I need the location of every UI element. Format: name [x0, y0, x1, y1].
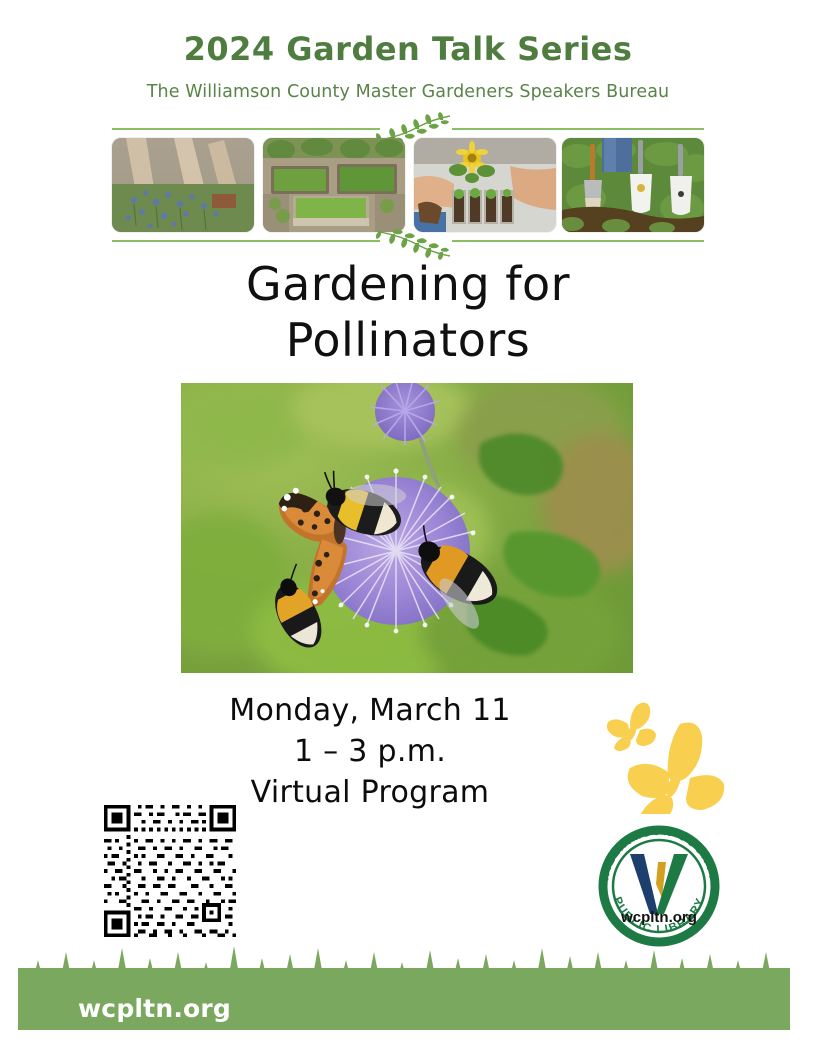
photo-strip: [112, 138, 704, 232]
qr-code-icon[interactable]: [98, 801, 242, 941]
butterfly-silhouette-icon: [598, 692, 730, 814]
series-title: 2024 Garden Talk Series: [0, 30, 816, 68]
page-title-line2: Pollinators: [0, 312, 816, 368]
divider-rule-top-left: [112, 128, 380, 130]
strip-photo-3: [414, 138, 556, 232]
strip-photo-1: [112, 138, 254, 232]
divider-rule-bottom-left: [112, 240, 380, 242]
page-title: Gardening for Pollinators: [0, 256, 816, 368]
divider-rule-top-right: [452, 128, 704, 130]
event-date: Monday, March 11: [150, 690, 590, 731]
leafy-vine-sprig-icon-bottom: [372, 226, 458, 260]
hero-photo: [181, 383, 633, 673]
logo-center-url: wcpltn.org: [620, 909, 697, 926]
footer-url[interactable]: wcpltn.org: [78, 994, 231, 1023]
series-subtitle: The Williamson County Master Gardeners S…: [0, 82, 816, 102]
library-logo: WILLIAMSON COUNTY PUBLIC LIBRARY wcpltn.…: [592, 818, 726, 948]
event-details: Monday, March 11 1 – 3 p.m. Virtual Prog…: [150, 690, 590, 813]
divider-rule-bottom-right: [452, 240, 704, 242]
event-time: 1 – 3 p.m.: [150, 731, 590, 772]
strip-photo-2: [263, 138, 405, 232]
strip-photo-4: [562, 138, 704, 232]
flyer-page: 2024 Garden Talk Series The Williamson C…: [0, 0, 816, 1056]
page-title-line1: Gardening for: [0, 256, 816, 312]
